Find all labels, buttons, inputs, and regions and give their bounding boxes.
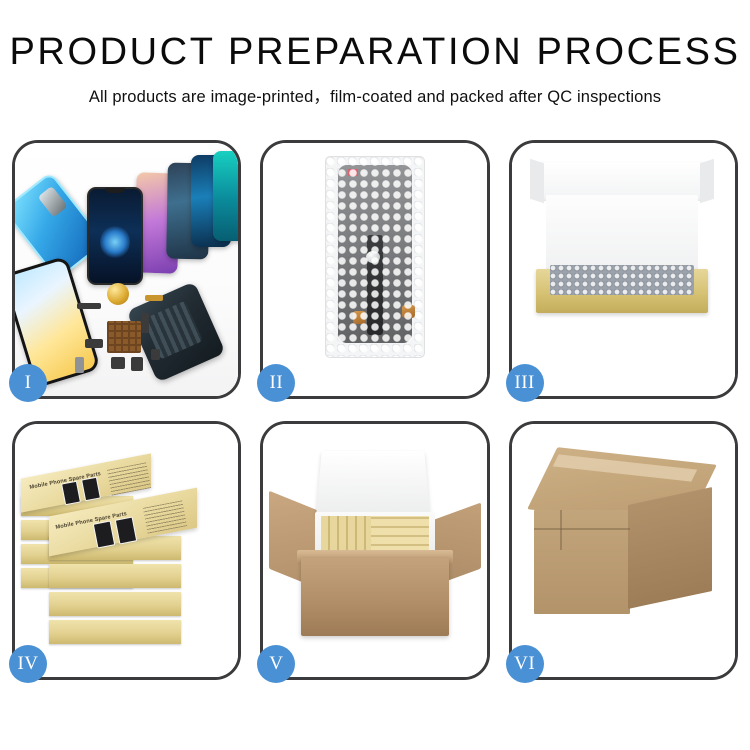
gray-bubble-wrap-fill <box>550 265 694 295</box>
connector-grid-component <box>107 321 141 353</box>
white-foam-sheet <box>546 195 698 273</box>
step-1-image <box>15 143 238 396</box>
carton-body <box>301 558 449 636</box>
phone-parts-assortment-illustration <box>15 143 238 396</box>
button-flex-part <box>141 313 149 333</box>
bubble-wrapped-screen-illustration <box>263 143 486 396</box>
step-badge-6: VI <box>506 645 544 683</box>
page-title: PRODUCT PREPARATION PROCESS <box>0 0 750 73</box>
gold-connector-left <box>353 311 366 324</box>
process-step-panel-6[interactable]: VI <box>509 421 738 680</box>
product-preparation-process-page: PRODUCT PREPARATION PROCESS All products… <box>0 0 750 750</box>
process-step-panel-2[interactable]: II <box>260 140 489 399</box>
gold-contact-part <box>145 295 163 301</box>
step-badge-4: IV <box>9 645 47 683</box>
process-step-panel-1[interactable]: I <box>12 140 241 399</box>
tempered-glass-screen <box>87 187 143 285</box>
stacked-retail-boxes-illustration: Mobile Phone Spare Parts Mobile Phone Sp… <box>15 424 238 677</box>
step-5-image <box>263 424 486 677</box>
step-4-image: Mobile Phone Spare Parts Mobile Phone Sp… <box>15 424 238 677</box>
box-stack: Mobile Phone Spare Parts Mobile Phone Sp… <box>21 440 235 640</box>
carton-flap-seam <box>560 510 562 550</box>
vibrator-part <box>131 357 143 371</box>
screen-flex-cable <box>367 235 383 335</box>
screw-set-part <box>75 357 84 373</box>
step-6-image <box>512 424 735 677</box>
sim-tray-part <box>151 349 160 360</box>
page-header: PRODUCT PREPARATION PROCESS All products… <box>0 0 750 107</box>
step-badge-5: V <box>257 645 295 683</box>
stacked-box-front-4 <box>49 620 181 644</box>
step-badge-1: I <box>9 364 47 402</box>
sealed-shipping-carton-illustration <box>512 424 735 677</box>
stacked-box-front-3 <box>49 592 181 616</box>
carton-front-face <box>534 510 630 614</box>
process-step-panel-5[interactable]: V <box>260 421 489 680</box>
red-label-sticker <box>348 169 358 176</box>
step-2-image <box>263 143 486 396</box>
green-phone <box>213 151 238 241</box>
process-step-panel-4[interactable]: Mobile Phone Spare Parts Mobile Phone Sp… <box>12 421 241 680</box>
speaker-component <box>107 283 129 305</box>
silver-shield-component <box>366 251 380 263</box>
page-subtitle: All products are image-printed，film-coat… <box>0 73 750 107</box>
carton-side-face <box>628 487 712 609</box>
step-badge-2: II <box>257 364 295 402</box>
gold-connector-right <box>402 305 415 318</box>
foam-lined-inner-box-illustration <box>512 143 735 396</box>
small-ic-part <box>85 339 103 348</box>
process-step-panel-3[interactable]: III <box>509 140 738 399</box>
foam-lid-open <box>316 451 430 517</box>
carton-front-seam <box>534 528 630 530</box>
stacked-box-front-2 <box>49 564 181 588</box>
process-steps-grid: I II <box>12 140 738 680</box>
step-badge-3: III <box>506 364 544 402</box>
flex-cable-part <box>77 303 101 309</box>
camera-module-part <box>111 357 125 369</box>
step-3-image <box>512 143 735 396</box>
packed-carton-open-illustration <box>263 424 486 677</box>
